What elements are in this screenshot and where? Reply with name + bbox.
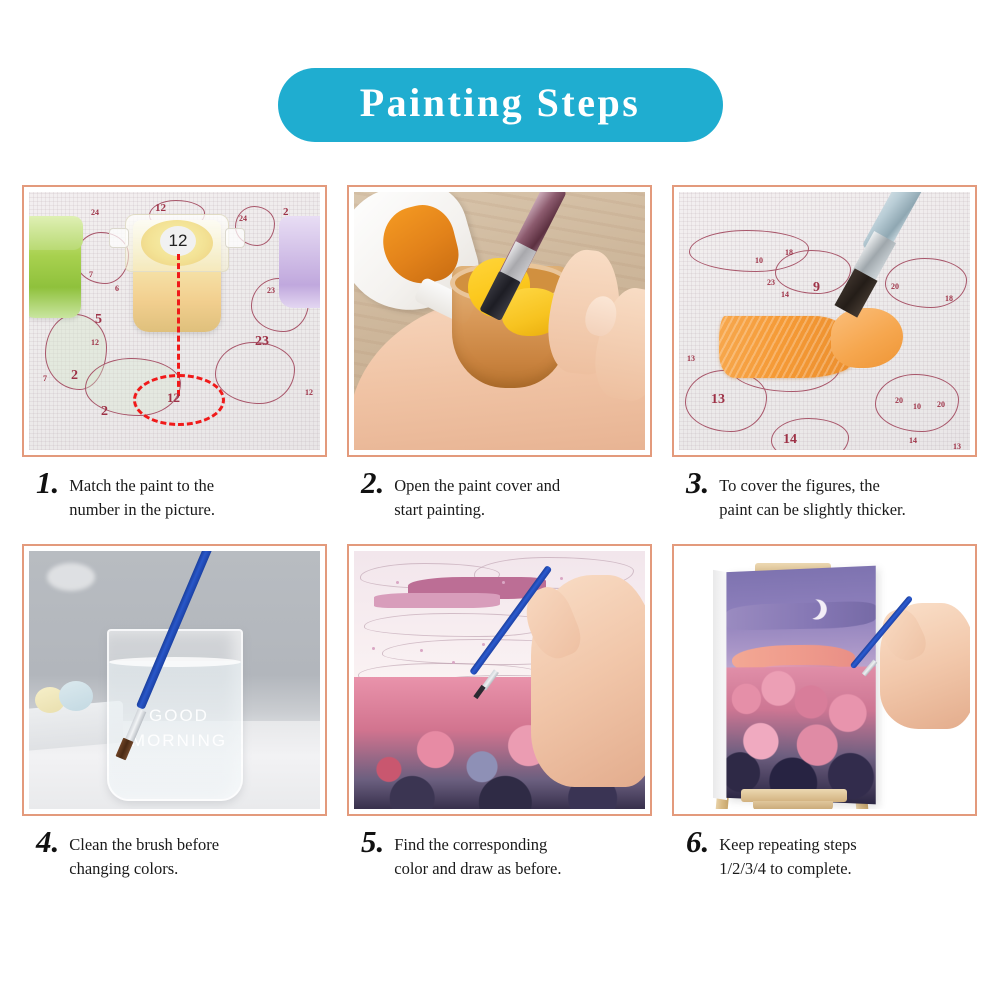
- pot-tab-left: [109, 228, 129, 248]
- canvas-number: 10: [913, 402, 921, 411]
- title-banner: Painting Steps: [278, 68, 723, 142]
- step-number: 6.: [686, 827, 709, 856]
- canvas-number: 6: [115, 284, 119, 293]
- canvas-number: 10: [755, 256, 763, 265]
- background-object: [59, 681, 93, 711]
- step-card-2: 2. Open the paint cover and start painti…: [347, 185, 652, 522]
- canvas-number: 20: [937, 400, 945, 409]
- step-number: 2.: [361, 468, 384, 497]
- step-6-photo-frame: [672, 544, 977, 816]
- canvas-number-dot: [482, 643, 485, 646]
- canvas-number: 20: [891, 282, 899, 291]
- background-object-blur: [47, 563, 95, 591]
- step-5-photo-frame: [347, 544, 652, 816]
- step-caption-line-2: changing colors.: [69, 857, 219, 881]
- step-card-3: 10 18 23 14 9 20 18 13 20 13 14 20 10 20…: [672, 185, 977, 522]
- canvas-number: 24: [239, 214, 247, 223]
- canvas-number-dot: [560, 577, 563, 580]
- step-1-photo-frame: 24 12 24 2 7 6 5 12 2 2 7 23 23 12: [22, 185, 327, 457]
- canvas-number-dot: [502, 581, 505, 584]
- open-paint-pot-photo: [354, 192, 645, 450]
- step-3-caption: 3. To cover the figures, the paint can b…: [672, 471, 977, 522]
- canvas-number: 7: [89, 270, 93, 279]
- canvas-number: 12: [91, 338, 99, 347]
- step-number: 1.: [36, 468, 59, 497]
- target-area-number: 12: [167, 390, 180, 406]
- step-card-4: GOOD MORNING 4. Clean the brush before c…: [22, 544, 327, 881]
- easel-tray-support: [753, 801, 833, 809]
- painted-cherry-blossoms: [726, 666, 875, 804]
- canvas-number-dot: [372, 647, 375, 650]
- canvas-number: 5: [95, 312, 102, 328]
- step-2-photo-frame: [347, 185, 652, 457]
- finished-canvas: [726, 566, 875, 805]
- step-number: 5.: [361, 827, 384, 856]
- step-5-caption: 5. Find the corresponding color and draw…: [347, 830, 652, 881]
- canvas-number: 13: [953, 442, 961, 450]
- step-card-1: 24 12 24 2 7 6 5 12 2 2 7 23 23 12: [22, 185, 327, 522]
- canvas-number: 12: [305, 388, 313, 397]
- canvas-number: 23: [767, 278, 775, 287]
- canvas-number: 13: [711, 392, 725, 408]
- step-3-photo-frame: 10 18 23 14 9 20 18 13 20 13 14 20 10 20…: [672, 185, 977, 457]
- canvas-outline-shape: [364, 613, 554, 637]
- green-paint-pot-lid: [29, 216, 83, 250]
- canvas-number-dot: [396, 581, 399, 584]
- title-banner-container: Painting Steps: [0, 68, 1000, 142]
- step-caption-line-1: Open the paint cover and: [394, 474, 560, 498]
- canvas-number: 12: [155, 202, 166, 214]
- clean-brush-in-water-photo: GOOD MORNING: [29, 551, 320, 809]
- canvas-number-dot: [452, 661, 455, 664]
- step-caption-line-1: Keep repeating steps: [719, 833, 856, 857]
- canvas-number: 24: [91, 208, 99, 217]
- purple-paint-pot: [279, 216, 320, 308]
- step-4-caption: 4. Clean the brush before changing color…: [22, 830, 327, 881]
- step-number: 4.: [36, 827, 59, 856]
- canvas-number: 23: [267, 286, 275, 295]
- canvas-number: 13: [687, 354, 695, 363]
- step-caption-line-1: Clean the brush before: [69, 833, 219, 857]
- canvas-side-edge: [713, 570, 727, 800]
- step-caption-line-2: paint can be slightly thicker.: [719, 498, 906, 522]
- canvas-number: 14: [909, 436, 917, 445]
- step-caption-line-1: To cover the figures, the: [719, 474, 906, 498]
- painted-mauve-band: [374, 593, 500, 608]
- canvas-number: 18: [785, 248, 793, 257]
- canvas-shape: [215, 342, 295, 404]
- step-caption-line-1: Match the paint to the: [69, 474, 215, 498]
- step-card-5: 5. Find the corresponding color and draw…: [347, 544, 652, 881]
- step-card-6: 6. Keep repeating steps 1/2/3/4 to compl…: [672, 544, 977, 881]
- step-caption-line-2: start painting.: [394, 498, 560, 522]
- easel-canvas-tray: [741, 789, 847, 802]
- glass-text-line-2: MORNING: [127, 728, 231, 754]
- pot-tab-right: [225, 228, 245, 248]
- canvas-number: 9: [813, 280, 820, 296]
- painting-in-progress-photo: [354, 551, 645, 809]
- step-caption-line-2: color and draw as before.: [394, 857, 561, 881]
- step-6-caption: 6. Keep repeating steps 1/2/3/4 to compl…: [672, 830, 977, 881]
- page-title: Painting Steps: [360, 83, 641, 123]
- step-caption-line-2: number in the picture.: [69, 498, 215, 522]
- canvas-number-dot: [420, 649, 423, 652]
- canvas-number: 14: [783, 432, 797, 448]
- canvas-number: 2: [101, 404, 108, 420]
- painting-steps-infographic: Painting Steps 24 12 24 2: [0, 0, 1000, 1000]
- pot-number-label: 12: [160, 226, 196, 256]
- step-1-caption: 1. Match the paint to the number in the …: [22, 471, 327, 522]
- step-caption-line-2: 1/2/3/4 to complete.: [719, 857, 856, 881]
- step-caption-line-1: Find the corresponding: [394, 833, 561, 857]
- canvas-number: 23: [255, 334, 269, 350]
- canvas-number: 7: [43, 374, 47, 383]
- canvas-number: 18: [945, 294, 953, 303]
- paint-pot-number-match-photo: 24 12 24 2 7 6 5 12 2 2 7 23 23 12: [29, 192, 320, 450]
- steps-grid: 24 12 24 2 7 6 5 12 2 2 7 23 23 12: [22, 185, 978, 881]
- water-surface-line: [109, 657, 241, 667]
- canvas-number: 20: [895, 396, 903, 405]
- step-2-caption: 2. Open the paint cover and start painti…: [347, 471, 652, 522]
- step-4-photo-frame: GOOD MORNING: [22, 544, 327, 816]
- step-number: 3.: [686, 468, 709, 497]
- paint-stroke-on-canvas-photo: 10 18 23 14 9 20 18 13 20 13 14 20 10 20…: [679, 192, 970, 450]
- canvas-number: 14: [781, 290, 789, 299]
- canvas-number: 2: [71, 368, 78, 384]
- finished-painting-on-easel-photo: [679, 551, 970, 809]
